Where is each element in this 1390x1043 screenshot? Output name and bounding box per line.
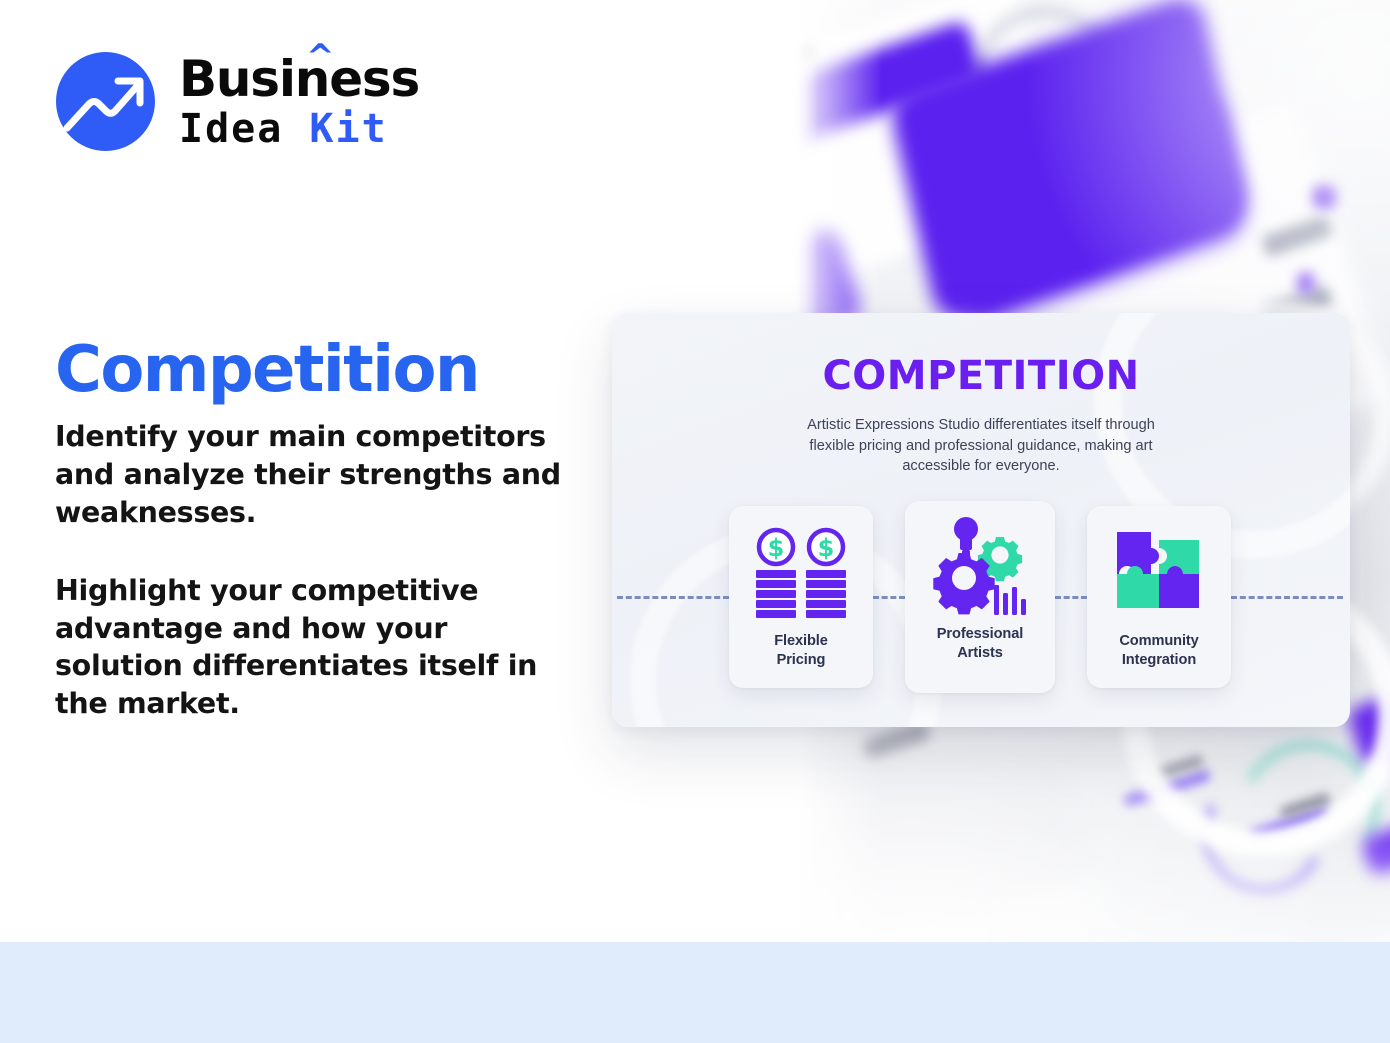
- brand-name-line1: Business ^: [179, 54, 419, 104]
- feature-label-line1: Community: [1119, 632, 1198, 651]
- footer-strip: [0, 942, 1390, 1043]
- puzzle-pieces-icon: [1111, 522, 1207, 626]
- gears-lightbulb-chart-icon: [924, 515, 1036, 619]
- connector-dash-right: [1231, 596, 1343, 599]
- svg-text:$: $: [818, 534, 835, 562]
- coin-stacks-icon: $ $: [749, 522, 853, 626]
- description-paragraph-2: Highlight your competitive advantage and…: [55, 572, 575, 724]
- brand-name-line2-accent: Kit: [309, 106, 387, 152]
- feature-label-flexible-pricing: Flexible Pricing: [774, 632, 828, 669]
- page-description: Identify your main competitors and analy…: [55, 418, 575, 723]
- feature-label-line2: Integration: [1119, 651, 1198, 670]
- feature-card-professional-artists[interactable]: Professional Artists: [905, 501, 1055, 693]
- brand-name-line1-text: Business: [179, 50, 419, 108]
- feature-label-professional-artists: Professional Artists: [937, 625, 1023, 662]
- feature-card-flexible-pricing[interactable]: $ $: [729, 506, 873, 688]
- connector-dash-mid-2: [1055, 596, 1087, 599]
- slide-stage: Business ^ Idea Kit Competition Identify…: [0, 0, 1390, 1043]
- feature-label-line2: Pricing: [774, 651, 828, 670]
- bg-violet-dot-2: [1297, 272, 1315, 294]
- brand-wordmark: Business ^ Idea Kit: [179, 54, 419, 150]
- feature-label-community-integration: Community Integration: [1119, 632, 1198, 669]
- slide-preview-card[interactable]: COMPETITION Artistic Expressions Studio …: [612, 313, 1350, 727]
- page-title: Competition: [55, 337, 479, 404]
- feature-card-community-integration[interactable]: Community Integration: [1087, 506, 1231, 688]
- connector-dash-mid-1: [873, 596, 905, 599]
- brand-circumflex-accent: ^: [306, 40, 333, 74]
- trend-arrow-circle-icon: [56, 52, 155, 151]
- slide-subtitle: Artistic Expressions Studio differentiat…: [791, 415, 1171, 477]
- feature-label-line2: Artists: [937, 644, 1023, 663]
- feature-row: $ $: [612, 501, 1350, 693]
- feature-label-line1: Professional: [937, 625, 1023, 644]
- bg-violet-dot: [1312, 185, 1336, 209]
- brand-name-line2-dark: Idea: [179, 106, 283, 152]
- feature-label-line1: Flexible: [774, 632, 828, 651]
- connector-dash-left: [617, 596, 729, 599]
- slide-title: COMPETITION: [612, 353, 1350, 399]
- svg-text:$: $: [768, 534, 785, 562]
- brand-name-line2: Idea Kit: [179, 108, 419, 150]
- description-paragraph-1: Identify your main competitors and analy…: [55, 418, 575, 532]
- brand-logo[interactable]: Business ^ Idea Kit: [56, 52, 419, 151]
